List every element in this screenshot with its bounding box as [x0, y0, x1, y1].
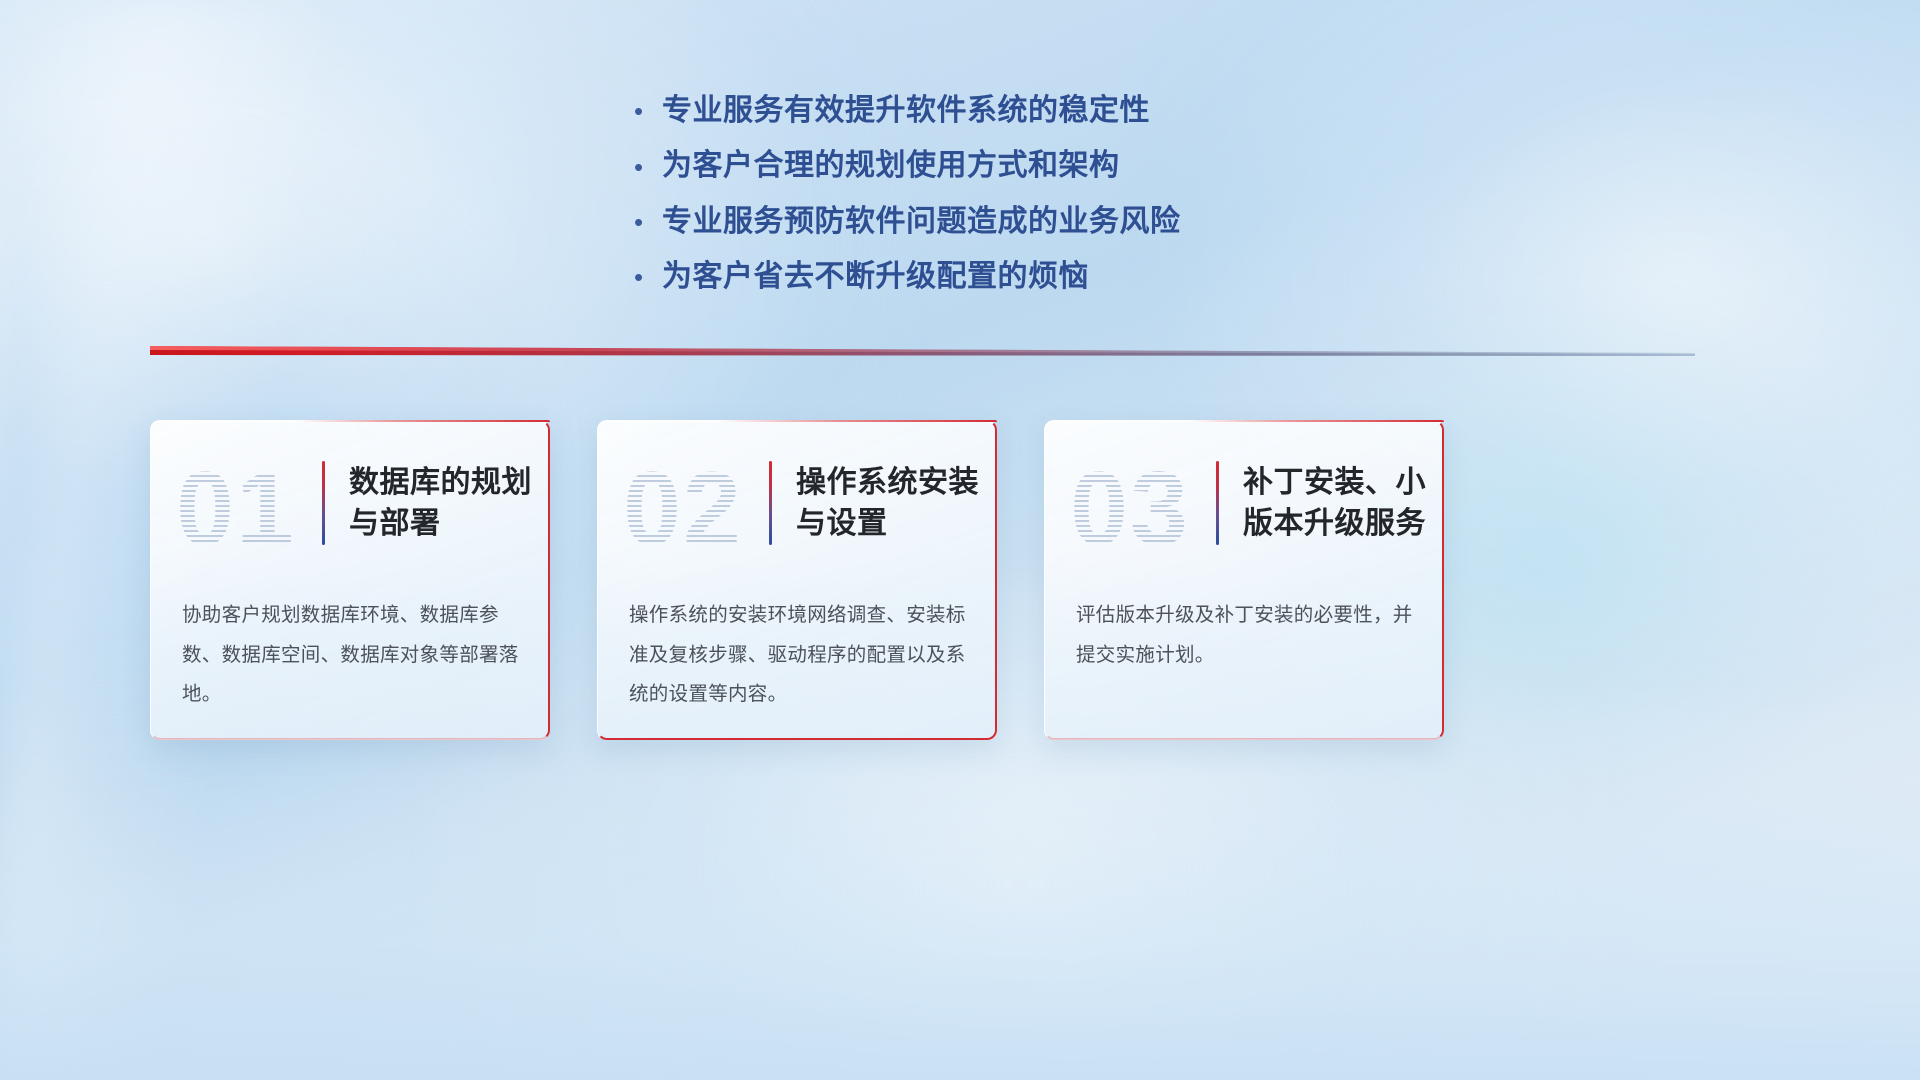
card-description: 操作系统的安装环境网络调查、安装标准及复核步骤、驱动程序的配置以及系统的设置等内… [629, 596, 971, 715]
card-description: 协助客户规划数据库环境、数据库参数、数据库空间、数据库对象等部署落地。 [182, 596, 524, 715]
service-card[interactable]: 03 补丁安装、小版本升级服务 评估版本升级及补丁安装的必要性，并提交实施计划。 [1044, 420, 1444, 740]
background-bottom-fade [0, 780, 1920, 1080]
slide-canvas: • 专业服务有效提升软件系统的稳定性 • 为客户合理的规划使用方式和架构 • 专… [0, 0, 1920, 1080]
bullet-text: 专业服务预防软件问题造成的业务风险 [662, 203, 1181, 241]
bullet-text: 为客户省去不断升级配置的烦恼 [662, 258, 1089, 296]
bullet-text: 为客户合理的规划使用方式和架构 [662, 147, 1120, 185]
list-item: • 为客户省去不断升级配置的烦恼 [630, 258, 1290, 296]
card-number: 02 [597, 445, 769, 561]
card-description: 评估版本升级及补丁安装的必要性，并提交实施计划。 [1076, 596, 1418, 675]
card-number: 01 [150, 445, 322, 561]
card-number: 03 [1044, 445, 1216, 561]
bullet-marker-icon: • [630, 154, 662, 180]
card-title: 数据库的规划与部署 [325, 462, 550, 545]
bullet-marker-icon: • [630, 264, 662, 290]
card-title: 补丁安装、小版本升级服务 [1219, 462, 1444, 545]
service-cards: 01 数据库的规划与部署 协助客户规划数据库环境、数据库参数、数据库空间、数据库… [150, 420, 1770, 750]
divider-wedge-icon [150, 344, 1695, 366]
benefits-bullet-list: • 专业服务有效提升软件系统的稳定性 • 为客户合理的规划使用方式和架构 • 专… [0, 92, 1920, 297]
card-header: 02 操作系统安装与设置 [597, 420, 997, 586]
list-item: • 专业服务有效提升软件系统的稳定性 [630, 92, 1290, 130]
section-divider [150, 344, 1695, 366]
card-header: 01 数据库的规划与部署 [150, 420, 550, 586]
list-item: • 为客户合理的规划使用方式和架构 [630, 147, 1290, 185]
list-item: • 专业服务预防软件问题造成的业务风险 [630, 203, 1290, 241]
bullet-marker-icon: • [630, 209, 662, 235]
card-title: 操作系统安装与设置 [772, 462, 997, 545]
card-header: 03 补丁安装、小版本升级服务 [1044, 420, 1444, 586]
bullet-text: 专业服务有效提升软件系统的稳定性 [662, 92, 1150, 130]
bullet-marker-icon: • [630, 98, 662, 124]
service-card[interactable]: 02 操作系统安装与设置 操作系统的安装环境网络调查、安装标准及复核步骤、驱动程… [597, 420, 997, 740]
service-card[interactable]: 01 数据库的规划与部署 协助客户规划数据库环境、数据库参数、数据库空间、数据库… [150, 420, 550, 740]
